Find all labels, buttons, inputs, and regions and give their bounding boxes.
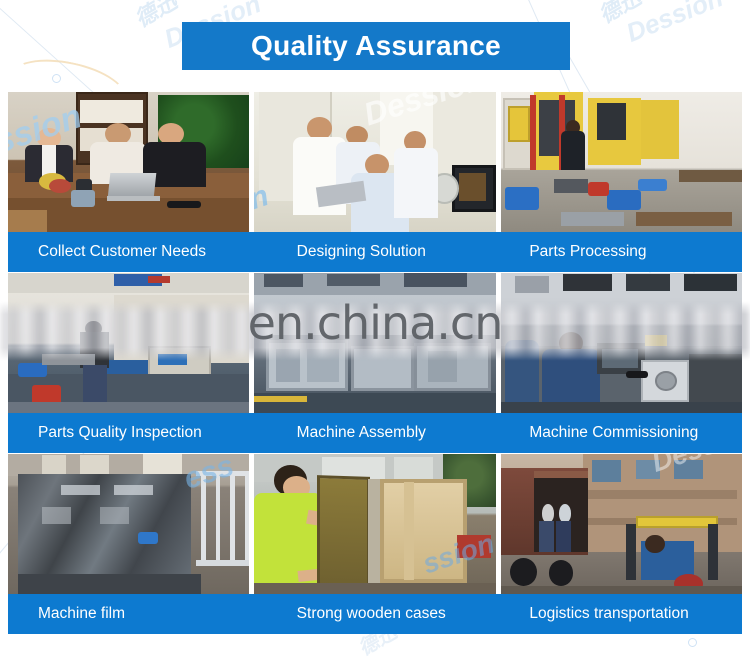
photo-engineers-discussing — [254, 92, 495, 232]
caption-machine-commissioning: Machine Commissioning — [509, 425, 742, 441]
caption-strong-wooden-cases: Strong wooden cases — [251, 606, 510, 622]
caption-bar-row-3: Machine film Strong wooden cases Logisti… — [8, 594, 742, 634]
caption-parts-quality-inspection: Parts Quality Inspection — [8, 425, 251, 441]
caption-bar-row-2: Parts Quality Inspection Machine Assembl… — [8, 413, 742, 453]
process-tile-logistics-transportation[interactable]: Dessi — [501, 454, 742, 594]
quality-assurance-page: 德迅 德迅 德迅 Dession Dession Quality Assuran… — [0, 0, 750, 667]
background-brand-latin-2: Dession — [622, 0, 727, 49]
process-row-3: ess — [0, 454, 750, 635]
background-brand-cjk-1: 德迅 — [128, 0, 182, 34]
photo-wrapped-machine — [8, 454, 249, 594]
caption-designing-solution: Designing Solution — [251, 244, 510, 260]
photo-cnc-workshop — [501, 92, 742, 232]
process-tile-parts-quality-inspection[interactable] — [8, 273, 249, 413]
process-grid: ssion — [0, 92, 750, 635]
photo-inspection-floor — [8, 273, 249, 413]
process-tile-strong-wooden-cases[interactable]: ssion — [254, 454, 495, 594]
page-title: Quality Assurance — [251, 32, 501, 60]
process-row-1: ssion — [0, 92, 750, 273]
caption-collect-customer-needs: Collect Customer Needs — [8, 244, 251, 260]
caption-bar-row-1: Collect Customer Needs Designing Solutio… — [8, 232, 742, 272]
photo-assembly-line — [254, 273, 495, 413]
caption-logistics-transportation: Logistics transportation — [509, 606, 742, 622]
process-tile-machine-film[interactable]: ess — [8, 454, 249, 594]
process-row-2: Parts Quality Inspection Machine Assembl… — [0, 273, 750, 454]
photo-office-meeting — [8, 92, 249, 232]
photo-worker-crating — [254, 454, 495, 594]
caption-parts-processing: Parts Processing — [509, 244, 742, 260]
process-tile-collect-customer-needs[interactable]: ssion — [8, 92, 249, 232]
photo-commissioning-bench — [501, 273, 742, 413]
caption-machine-film: Machine film — [8, 606, 251, 622]
process-tile-parts-processing[interactable] — [501, 92, 742, 232]
background-brand-cjk-2: 德迅 — [592, 0, 646, 30]
caption-machine-assembly: Machine Assembly — [251, 425, 510, 441]
page-title-banner: Quality Assurance — [182, 22, 570, 70]
process-tile-machine-commissioning[interactable] — [501, 273, 742, 413]
photo-container-loading — [501, 454, 742, 594]
process-tile-machine-assembly[interactable] — [254, 273, 495, 413]
process-tile-designing-solution[interactable]: Dession on — [254, 92, 495, 232]
